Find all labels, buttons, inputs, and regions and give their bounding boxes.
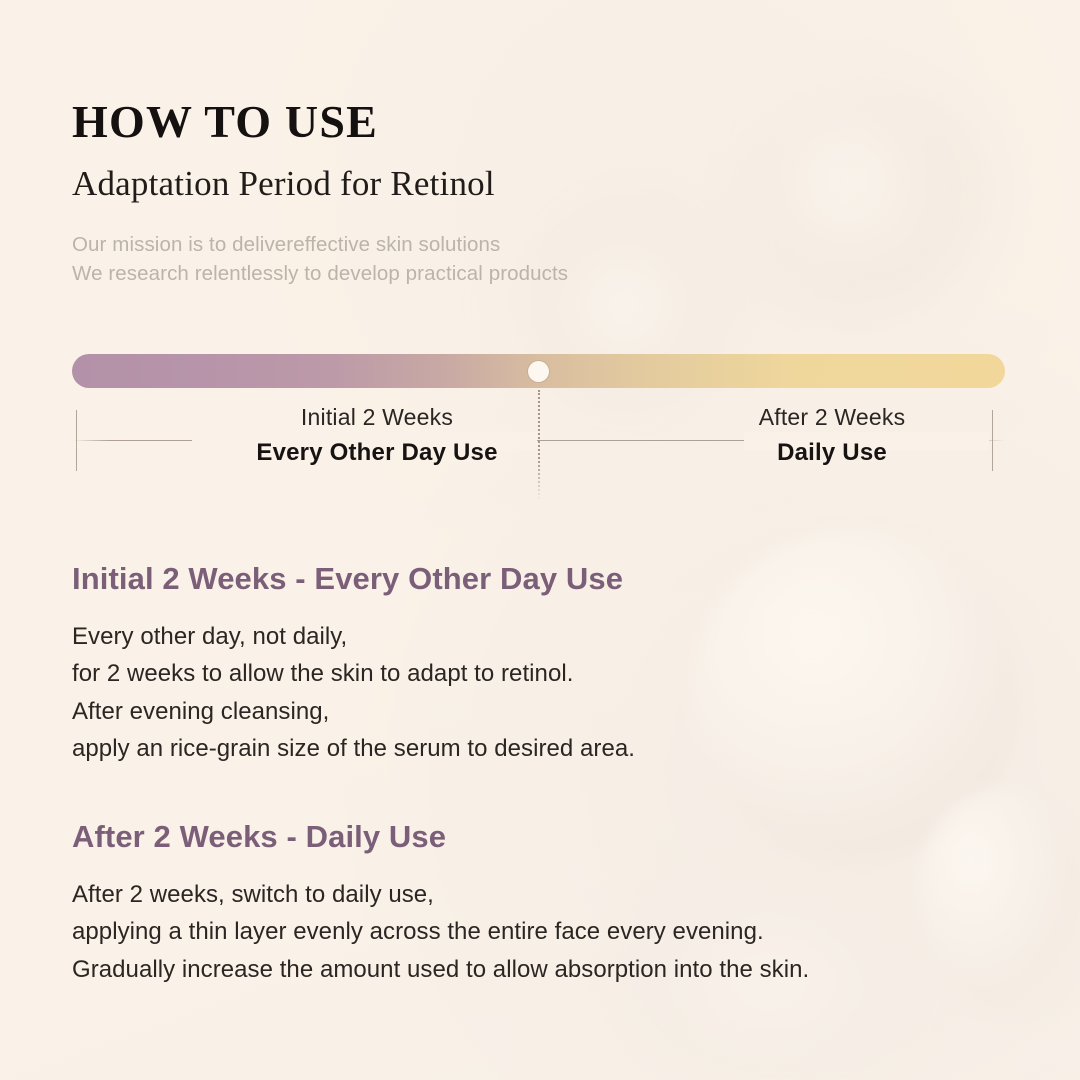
body-line: for 2 weeks to allow the skin to adapt t… (72, 655, 1002, 692)
tagline: Our mission is to delivereffective skin … (72, 204, 972, 288)
section-body: Every other day, not daily, for 2 weeks … (72, 599, 1002, 768)
body-line: Every other day, not daily, (72, 618, 1002, 655)
page-subtitle: Adaptation Period for Retinol (72, 146, 972, 204)
body-line: applying a thin layer evenly across the … (72, 913, 1002, 950)
body-line: Gradually increase the amount used to al… (72, 951, 1002, 988)
body-line: After 2 weeks, switch to daily use, (72, 876, 1002, 913)
header: HOW TO USE Adaptation Period for Retinol… (72, 98, 972, 289)
tagline-line-2: We research relentlessly to develop prac… (72, 259, 972, 288)
tagline-line-1: Our mission is to delivereffective skin … (72, 230, 972, 259)
body-line: After evening cleansing, (72, 693, 1002, 730)
timeline: Initial 2 Weeks Every Other Day Use Afte… (72, 354, 1005, 388)
page-title: HOW TO USE (72, 98, 972, 146)
section-after-two-weeks: After 2 Weeks - Daily Use After 2 weeks,… (72, 818, 1002, 988)
timeline-labels: Initial 2 Weeks Every Other Day Use Afte… (72, 406, 1005, 476)
timeline-phase-after: After 2 Weeks Daily Use (632, 406, 1032, 465)
section-body: After 2 weeks, switch to daily use, appl… (72, 857, 1002, 988)
section-heading: After 2 Weeks - Daily Use (72, 818, 1002, 857)
phase-initial-period: Initial 2 Weeks (177, 406, 577, 429)
section-initial-two-weeks: Initial 2 Weeks - Every Other Day Use Ev… (72, 560, 1002, 768)
phase-after-frequency: Daily Use (632, 429, 1032, 465)
section-heading: Initial 2 Weeks - Every Other Day Use (72, 560, 1002, 599)
body-line: apply an rice-grain size of the serum to… (72, 730, 1002, 767)
timeline-phase-initial: Initial 2 Weeks Every Other Day Use (177, 406, 577, 465)
phase-initial-frequency: Every Other Day Use (177, 429, 577, 465)
gradient-progress-bar (72, 354, 1005, 388)
timeline-midpoint-marker (528, 361, 549, 382)
how-to-use-graphic: HOW TO USE Adaptation Period for Retinol… (0, 0, 1080, 1080)
phase-after-period: After 2 Weeks (632, 406, 1032, 429)
